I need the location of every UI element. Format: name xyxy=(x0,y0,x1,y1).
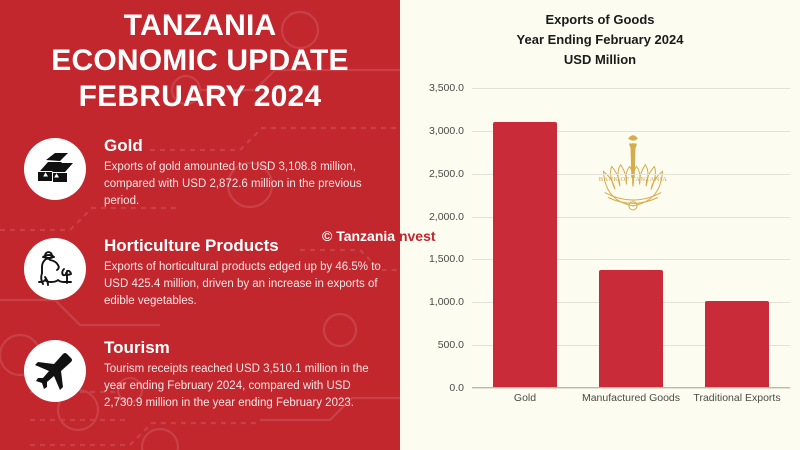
chart-title: Exports of Goods Year Ending February 20… xyxy=(400,10,800,69)
chart-panel: Exports of Goods Year Ending February 20… xyxy=(400,0,800,450)
headline-line-2: ECONOMIC UPDATE xyxy=(0,43,400,78)
tourism-title: Tourism xyxy=(104,338,388,358)
chart-title-main: Exports of Goods xyxy=(400,10,800,30)
gold-title: Gold xyxy=(104,136,388,156)
chart-plot-area: BANK OF TANZANIA 0.0500.01,000.01,500.02… xyxy=(472,88,790,388)
page-title: TANZANIA ECONOMIC UPDATE FEBRUARY 2024 xyxy=(0,8,400,114)
tourism-text-block: Tourism Tourism receipts reached USD 3,5… xyxy=(104,338,388,412)
horticulture-description: Exports of horticultural products edged … xyxy=(104,259,388,311)
gold-bars-icon-circle xyxy=(24,138,86,200)
y-axis-tick-label: 3,500.0 xyxy=(390,82,464,94)
watermark-part-a: © Tanzania xyxy=(322,228,395,244)
gold-bars-icon xyxy=(35,152,75,186)
x-axis-tick-label: Gold xyxy=(472,392,578,404)
gold-text-block: Gold Exports of gold amounted to USD 3,1… xyxy=(104,136,388,210)
farmer-planting-icon-circle xyxy=(24,238,86,300)
chart-bar xyxy=(705,301,769,388)
y-axis-tick-label: 2,000.0 xyxy=(390,211,464,223)
y-axis-tick-label: 1,000.0 xyxy=(390,296,464,308)
x-axis-tick-label: Manufactured Goods xyxy=(578,392,684,404)
emblem-text: BANK OF TANZANIA xyxy=(599,176,668,183)
x-axis-tick-label: Traditional Exports xyxy=(684,392,790,404)
y-axis-tick-label: 500.0 xyxy=(390,339,464,351)
y-axis-tick-label: 0.0 xyxy=(390,382,464,394)
infographic-page: TANZANIA ECONOMIC UPDATE FEBRUARY 2024 xyxy=(0,0,800,450)
gridline xyxy=(472,388,790,389)
horticulture-text-block: Horticulture Products Exports of horticu… xyxy=(104,236,388,310)
gold-description: Exports of gold amounted to USD 3,108.8 … xyxy=(104,159,388,211)
airplane-icon xyxy=(35,351,75,391)
left-red-panel: TANZANIA ECONOMIC UPDATE FEBRUARY 2024 xyxy=(0,0,400,450)
chart-subtitle: Year Ending February 2024 xyxy=(400,30,800,50)
y-axis-tick-label: 1,500.0 xyxy=(390,253,464,265)
gridline xyxy=(472,88,790,89)
headline-line-3: FEBRUARY 2024 xyxy=(0,79,400,114)
y-axis-tick-label: 3,000.0 xyxy=(390,125,464,137)
headline-line-1: TANZANIA xyxy=(0,8,400,43)
chart-bar xyxy=(599,270,663,388)
tanzaniainvest-watermark: © TanzaniaInvest xyxy=(322,228,436,244)
watermark-part-b: Invest xyxy=(395,228,435,244)
y-axis-tick-label: 2,500.0 xyxy=(390,168,464,180)
airplane-icon-circle xyxy=(24,340,86,402)
tourism-description: Tourism receipts reached USD 3,510.1 mil… xyxy=(104,361,388,413)
chart-units: USD Million xyxy=(400,50,800,70)
farmer-planting-icon xyxy=(34,249,76,289)
chart-bar xyxy=(493,122,557,388)
x-axis-line xyxy=(472,387,790,388)
